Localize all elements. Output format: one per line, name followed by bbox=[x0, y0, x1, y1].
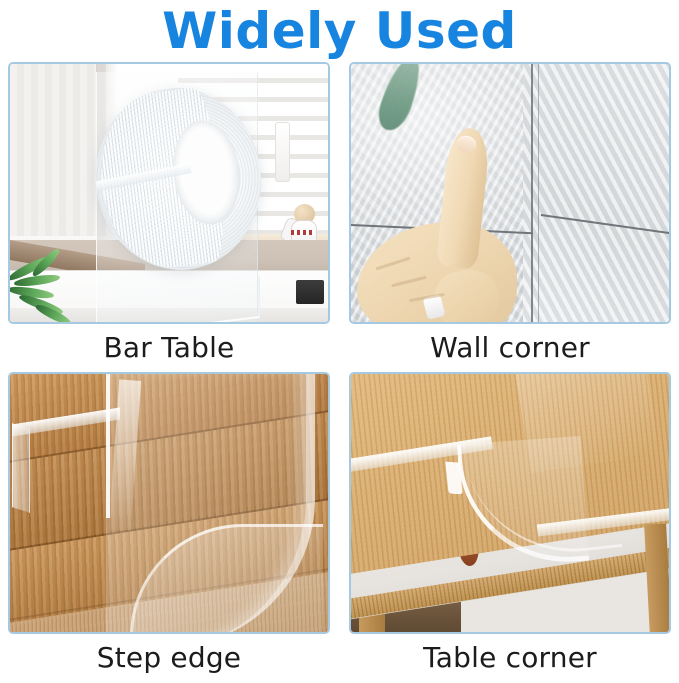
photo-table-corner bbox=[349, 372, 671, 634]
panel-step-edge: Step edge bbox=[8, 372, 330, 680]
photo-bar-table bbox=[8, 62, 330, 324]
bottle bbox=[275, 122, 290, 182]
dark-box bbox=[296, 280, 324, 304]
table-leg-right bbox=[644, 524, 671, 634]
astronaut-belt bbox=[291, 230, 315, 235]
corner-guard-side-face bbox=[12, 423, 30, 513]
panel-table-corner: Table corner bbox=[349, 372, 671, 680]
header: Widely Used bbox=[0, 0, 679, 62]
page-title: Widely Used bbox=[162, 6, 517, 56]
caption-bar-table: Bar Table bbox=[8, 324, 330, 370]
caption-wall-corner: Wall corner bbox=[349, 324, 671, 370]
caption-step-edge: Step edge bbox=[8, 634, 330, 680]
fern-plant bbox=[8, 256, 96, 322]
panel-grid: Bar Table Wall corner bbox=[0, 62, 679, 680]
caption-table-corner: Table corner bbox=[349, 634, 671, 680]
tape-roll bbox=[86, 79, 272, 280]
hand bbox=[357, 144, 547, 324]
panel-wall-corner: Wall corner bbox=[349, 62, 671, 370]
photo-wall-corner bbox=[349, 62, 671, 324]
photo-step-edge bbox=[8, 372, 330, 634]
panel-bar-table: Bar Table bbox=[8, 62, 330, 370]
clear-tape-strip-edge bbox=[106, 372, 110, 518]
